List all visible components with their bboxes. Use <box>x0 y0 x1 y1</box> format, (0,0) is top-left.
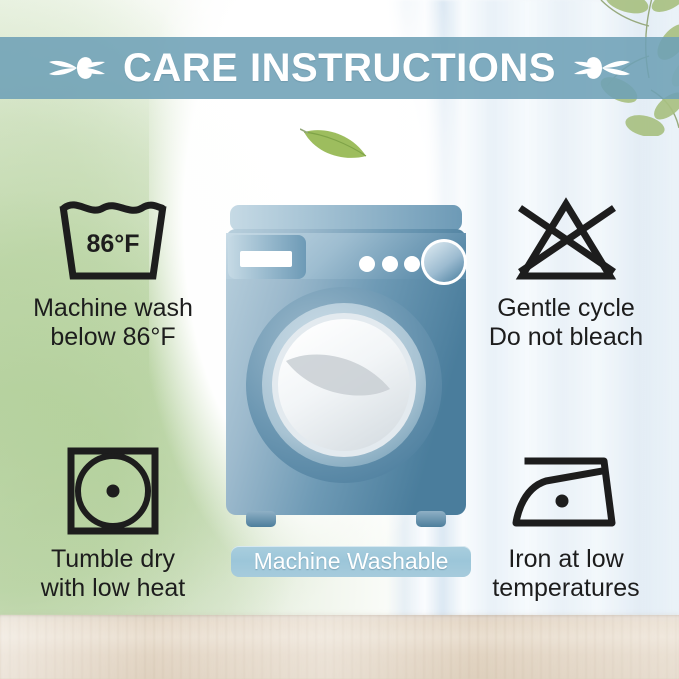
label-line-1: Machine wash <box>0 294 228 323</box>
fleur-de-lis-icon-right <box>574 48 630 88</box>
label-line-1: Iron at low <box>451 545 679 574</box>
indicator-dot-1 <box>359 256 375 272</box>
care-instructions-card: CARE INSTRUCTIONS <box>0 0 679 679</box>
label-line-2: below 86°F <box>0 323 228 352</box>
page-title: CARE INSTRUCTIONS <box>123 48 556 88</box>
machine-top <box>230 205 462 231</box>
care-label-no-bleach: Gentle cycle Do not bleach <box>451 294 679 351</box>
tumble-dry-icon <box>63 443 163 539</box>
care-label-machine-wash: Machine wash below 86°F <box>0 294 228 351</box>
floating-leaf-icon <box>300 120 370 164</box>
iron-icon-wrap <box>451 443 679 539</box>
care-label-tumble-dry: Tumble dry with low heat <box>0 545 228 602</box>
wash-basin-icon-wrap: 86°F <box>0 192 228 288</box>
indicator-dot-2 <box>382 256 398 272</box>
badge-label: Machine Washable <box>254 550 449 573</box>
wash-temperature-value: 86°F <box>86 230 139 258</box>
header-banner: CARE INSTRUCTIONS <box>0 37 679 99</box>
washing-machine-illustration <box>222 203 470 536</box>
fleur-de-lis-icon-left <box>49 48 105 88</box>
wash-basin-icon: 86°F <box>53 194 173 286</box>
care-symbol-no-bleach: Gentle cycle Do not bleach <box>451 192 679 351</box>
machine-foot-left <box>246 511 276 527</box>
care-symbol-iron: Iron at low temperatures <box>451 443 679 602</box>
iron-icon <box>506 445 626 537</box>
wood-surface <box>0 615 679 679</box>
label-line-2: temperatures <box>451 574 679 603</box>
care-symbol-machine-wash: 86°F Machine wash below 86°F <box>0 192 228 351</box>
label-line-1: Tumble dry <box>0 545 228 574</box>
care-label-iron: Iron at low temperatures <box>451 545 679 602</box>
label-line-2: Do not bleach <box>451 323 679 352</box>
machine-washable-badge: Machine Washable <box>231 546 471 577</box>
triangle-crossed-icon-wrap <box>451 192 679 288</box>
care-symbol-tumble-dry: Tumble dry with low heat <box>0 443 228 602</box>
detergent-drawer-slot <box>240 251 292 267</box>
tumble-dry-icon-wrap <box>0 443 228 539</box>
triangle-crossed-icon <box>506 194 626 286</box>
machine-foot-right <box>416 511 446 527</box>
label-line-1: Gentle cycle <box>451 294 679 323</box>
indicator-dot-3 <box>404 256 420 272</box>
label-line-2: with low heat <box>0 574 228 603</box>
